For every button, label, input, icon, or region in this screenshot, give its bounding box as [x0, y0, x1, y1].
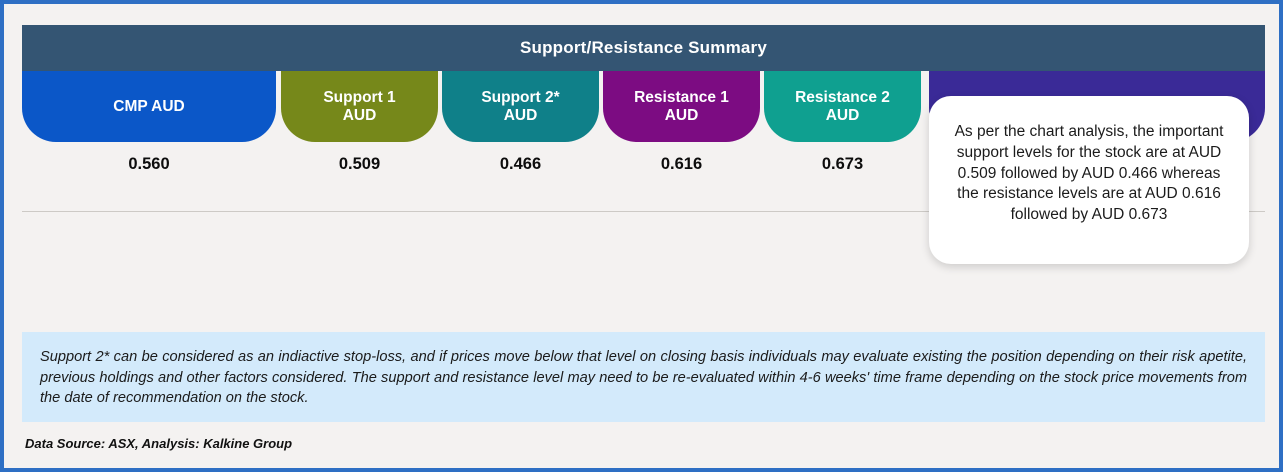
disclaimer-text: Support 2* can be considered as an india… [40, 349, 1247, 406]
data-source-text: Data Source: ASX, Analysis: Kalkine Grou… [25, 436, 292, 451]
table-title-bar: Support/Resistance Summary [22, 25, 1265, 71]
data-source-label: Data Source: ASX, Analysis: Kalkine Grou… [25, 436, 292, 451]
value-cell-2: 0.466 [442, 117, 599, 211]
summary-table: Support/Resistance Summary CMP AUDSuppor… [22, 25, 1265, 237]
value-cell-3: 0.616 [603, 117, 760, 211]
page-title: Support/Resistance Summary [520, 38, 767, 58]
value-cell-1: 0.509 [281, 117, 438, 211]
disclaimer-note: Support 2* can be considered as an india… [22, 332, 1265, 422]
value-cell-0: 0.560 [22, 117, 276, 211]
column-header-label: CMP AUD [113, 98, 184, 116]
support-resistance-card: Support/Resistance Summary CMP AUDSuppor… [0, 0, 1283, 472]
description-callout: As per the chart analysis, the important… [929, 96, 1249, 264]
value-cell-4: 0.673 [764, 117, 921, 211]
description-text: As per the chart analysis, the important… [955, 123, 1224, 223]
